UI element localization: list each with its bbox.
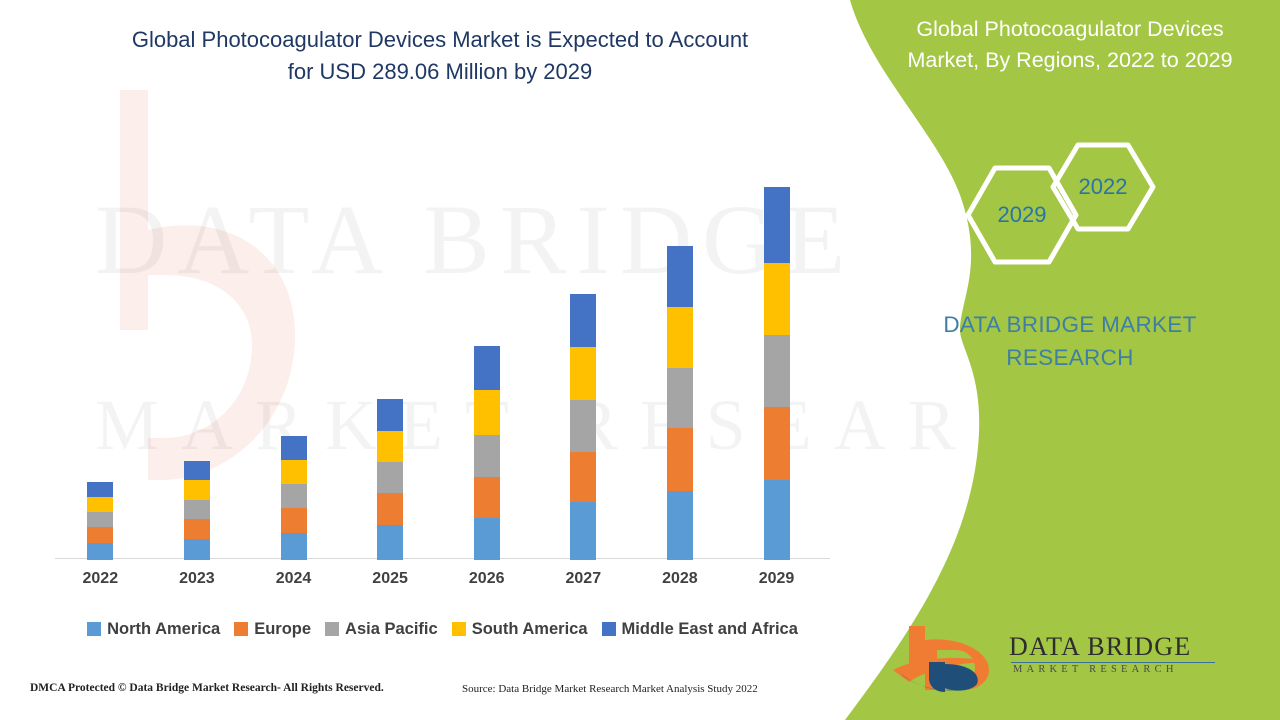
bar-2028: [667, 246, 693, 560]
legend-item-middle-east-and-africa[interactable]: Middle East and Africa: [602, 620, 798, 639]
legend-item-north-america[interactable]: North America: [87, 620, 220, 639]
panel-title-line-1: Global Photocoagulator Devices: [916, 17, 1223, 41]
x-axis-label-2027: 2027: [543, 570, 623, 588]
x-axis-label-2025: 2025: [350, 570, 430, 588]
bar-2025: [377, 399, 403, 560]
x-axis-label-2028: 2028: [640, 570, 720, 588]
legend-label: Middle East and Africa: [622, 620, 798, 639]
bar-segment-2026-asia-pacific: [474, 435, 500, 477]
legend-label: Europe: [254, 620, 311, 639]
bar-segment-2025-north-america: [377, 525, 403, 560]
hex-badge-label-2022: 2022: [1058, 174, 1148, 200]
legend-swatch-icon: [325, 622, 339, 636]
bar-segment-2027-europe: [570, 452, 596, 502]
legend-swatch-icon: [602, 622, 616, 636]
bar-segment-2024-middle-east-and-africa: [281, 436, 307, 460]
legend-label: South America: [472, 620, 588, 639]
bar-segment-2026-europe: [474, 477, 500, 518]
chart-title-line-1: Global Photocoagulator Devices Market is…: [132, 27, 748, 52]
footer: DMCA Protected © Data Bridge Market Rese…: [0, 682, 850, 708]
infographic-canvas: DATA BRIDGE MARKET RESEARCH Global Photo…: [0, 0, 1280, 720]
legend-item-asia-pacific[interactable]: Asia Pacific: [325, 620, 438, 639]
legend-label: North America: [107, 620, 220, 639]
bar-segment-2029-europe: [764, 407, 790, 480]
bar-segment-2023-south-america: [184, 480, 210, 500]
bar-2027: [570, 294, 596, 560]
panel-brand-name: DATA BRIDGE MARKET RESEARCH: [890, 308, 1250, 374]
panel-brand-line-2: RESEARCH: [1006, 345, 1133, 370]
logo-secondary-text: MARKET RESEARCH: [1013, 664, 1178, 675]
bar-segment-2024-asia-pacific: [281, 484, 307, 508]
bar-segment-2029-asia-pacific: [764, 335, 790, 407]
bar-segment-2025-middle-east-and-africa: [377, 399, 403, 431]
hex-badge-label-2029: 2029: [977, 202, 1067, 228]
bar-segment-2024-north-america: [281, 533, 307, 560]
bar-segment-2026-middle-east-and-africa: [474, 346, 500, 390]
bar-2022: [87, 482, 113, 560]
bar-segment-2027-middle-east-and-africa: [570, 294, 596, 347]
bar-segment-2028-north-america: [667, 491, 693, 560]
legend-item-europe[interactable]: Europe: [234, 620, 311, 639]
data-bridge-mark-icon: [885, 622, 1005, 694]
bar-segment-2027-south-america: [570, 347, 596, 400]
bar-segment-2022-europe: [87, 527, 113, 543]
hex-badge-group: 2029 2022: [950, 140, 1180, 290]
bar-segment-2022-middle-east-and-africa: [87, 482, 113, 497]
bar-segment-2023-asia-pacific: [184, 500, 210, 519]
legend-swatch-icon: [234, 622, 248, 636]
bar-segment-2025-europe: [377, 493, 403, 524]
x-axis-label-2029: 2029: [737, 570, 817, 588]
footer-copyright: DMCA Protected © Data Bridge Market Rese…: [30, 682, 384, 694]
bar-segment-2023-europe: [184, 519, 210, 538]
bar-segment-2022-south-america: [87, 497, 113, 512]
bar-segment-2029-middle-east-and-africa: [764, 187, 790, 263]
data-bridge-logo: DATA BRIDGE MARKET RESEARCH: [885, 622, 1245, 694]
panel-brand-line-1: DATA BRIDGE MARKET: [943, 312, 1196, 337]
bar-segment-2023-north-america: [184, 539, 210, 560]
bar-segment-2029-south-america: [764, 263, 790, 335]
bar-2026: [474, 346, 500, 560]
bar-segment-2025-asia-pacific: [377, 462, 403, 493]
logo-primary-text: DATA BRIDGE: [1009, 632, 1191, 662]
hexagon-shape-2022: [1053, 145, 1153, 229]
bar-2029: [764, 187, 790, 560]
legend-swatch-icon: [87, 622, 101, 636]
chart-title: Global Photocoagulator Devices Market is…: [70, 24, 810, 88]
legend-swatch-icon: [452, 622, 466, 636]
x-axis-label-2026: 2026: [447, 570, 527, 588]
legend-item-south-america[interactable]: South America: [452, 620, 588, 639]
chart-title-line-2: for USD 289.06 Million by 2029: [288, 59, 593, 84]
x-axis-tick-labels: 20222023202420252026202720282029: [55, 570, 830, 598]
bar-segment-2025-south-america: [377, 431, 403, 462]
hexagon-shape-2029: [968, 168, 1076, 262]
bar-segment-2022-north-america: [87, 543, 113, 560]
x-axis-label-2023: 2023: [157, 570, 237, 588]
bar-2024: [281, 436, 307, 560]
bar-segment-2028-europe: [667, 428, 693, 491]
bar-segment-2022-asia-pacific: [87, 512, 113, 527]
legend-label: Asia Pacific: [345, 620, 438, 639]
bar-segment-2024-south-america: [281, 460, 307, 485]
panel-title-line-2: Market, By Regions, 2022 to 2029: [907, 48, 1232, 72]
bar-2023: [184, 461, 210, 560]
brand-panel: Global Photocoagulator Devices Market, B…: [810, 0, 1280, 720]
bar-segment-2028-south-america: [667, 307, 693, 368]
chart-plot-area: [55, 120, 830, 560]
bar-segment-2023-middle-east-and-africa: [184, 461, 210, 480]
bar-segment-2028-asia-pacific: [667, 368, 693, 428]
bar-segment-2027-north-america: [570, 502, 596, 560]
panel-title: Global Photocoagulator Devices Market, B…: [880, 14, 1260, 76]
chart-legend: North AmericaEuropeAsia PacificSouth Ame…: [55, 616, 830, 642]
bar-segment-2024-europe: [281, 508, 307, 533]
brand-panel-content: Global Photocoagulator Devices Market, B…: [860, 0, 1280, 720]
bar-segment-2028-middle-east-and-africa: [667, 246, 693, 307]
bar-segment-2026-north-america: [474, 518, 500, 560]
logo-divider: [1011, 662, 1215, 663]
x-axis-label-2024: 2024: [254, 570, 334, 588]
footer-source: Source: Data Bridge Market Research Mark…: [462, 683, 758, 695]
bar-segment-2027-asia-pacific: [570, 400, 596, 452]
brand-panel-shape: [810, 0, 1280, 720]
bar-segment-2026-south-america: [474, 390, 500, 435]
bar-segment-2029-north-america: [764, 480, 790, 560]
x-axis-label-2022: 2022: [60, 570, 140, 588]
